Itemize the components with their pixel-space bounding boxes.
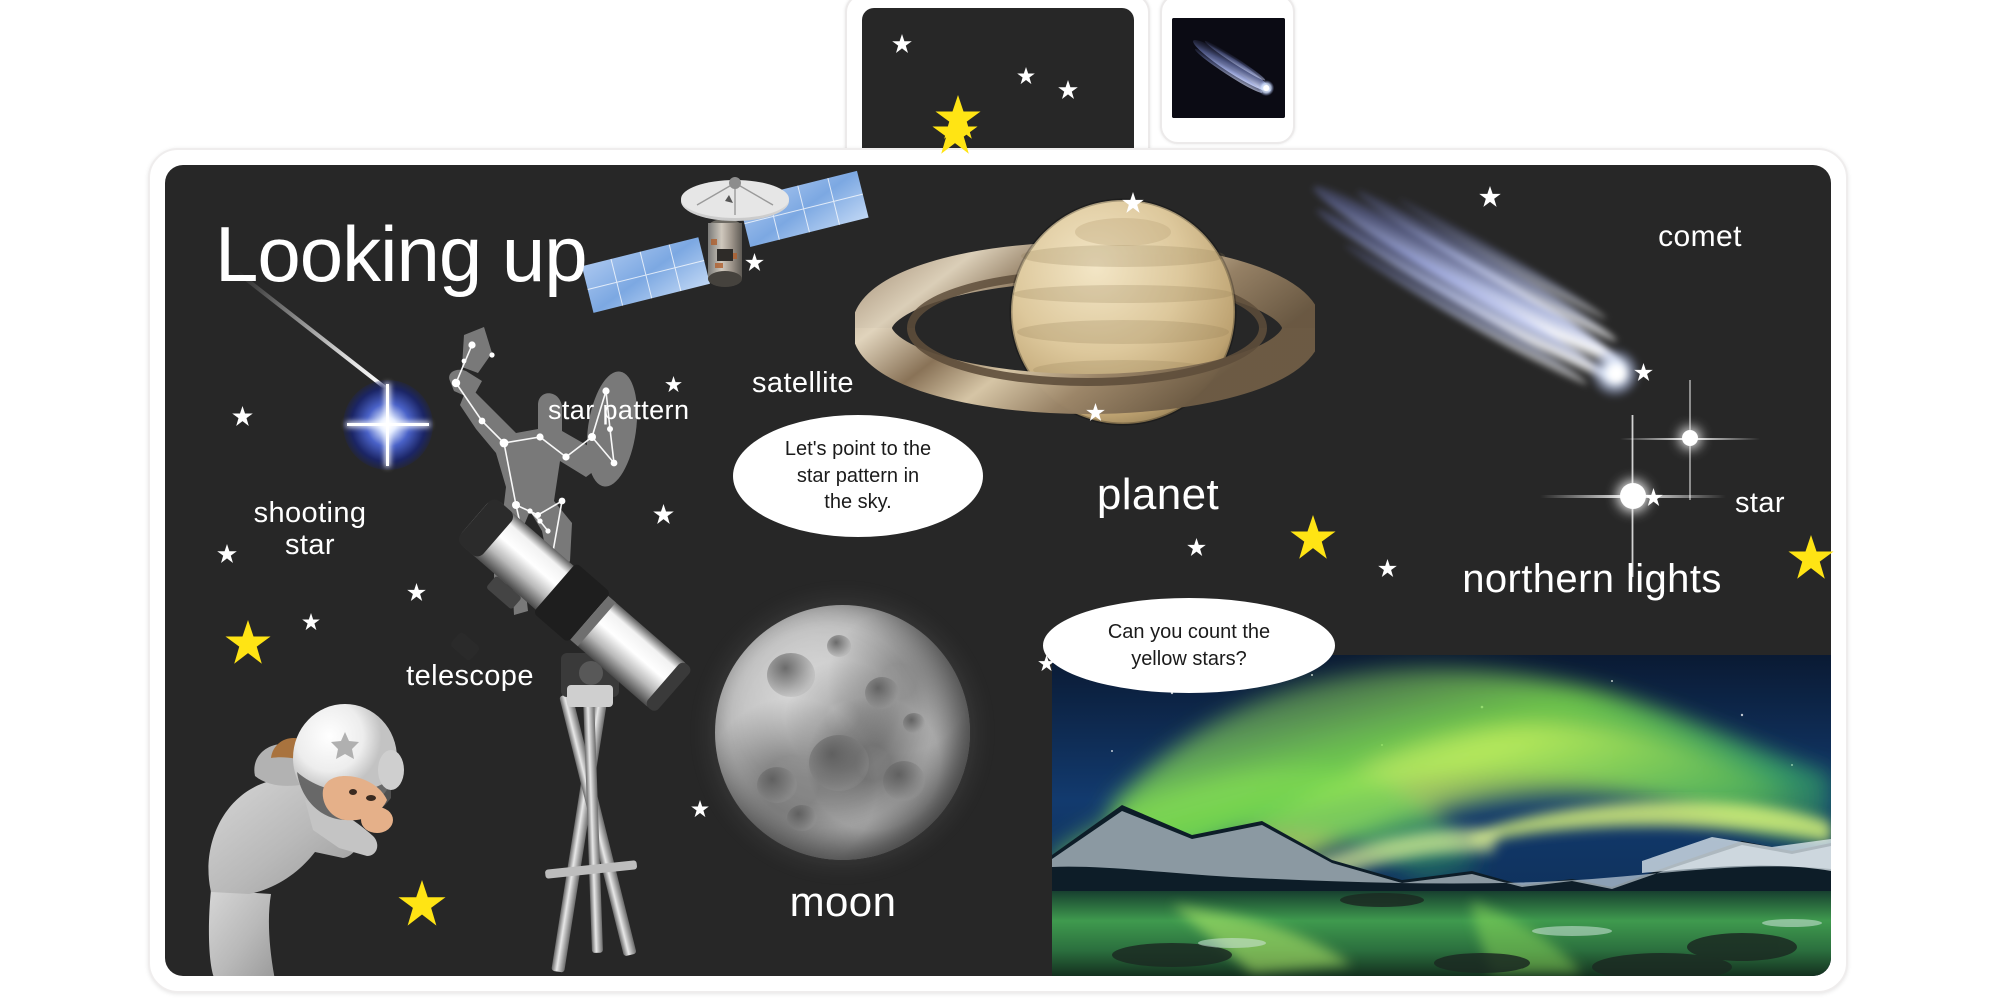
crater [809,735,869,791]
crater [787,805,817,831]
book-spread-page: Looking upstar patternsatelliteshooting … [0,0,2000,1001]
label-star: star [1735,487,1785,519]
satellite-icon [565,165,885,325]
satellite-artwork [565,165,885,325]
label-northern-lights: northern lights [1462,557,1721,602]
bright-star-icon [1540,415,1726,577]
aurora-artwork [1052,655,1831,976]
comet-icon [1250,165,1670,437]
tab-comet-thumbnail [1172,18,1285,118]
crater [883,761,925,801]
crater [757,767,797,803]
bubble-yellow-stars: Can you count the yellow stars? [1043,598,1335,693]
label-moon: moon [790,878,897,925]
label-comet: comet [1658,220,1742,254]
child-icon [195,680,455,976]
label-star-pattern: star pattern [548,395,689,425]
bubble-star-pattern: Let's point to the star pattern in the s… [733,415,983,537]
label-planet: planet [1097,470,1219,519]
northern-lights-photo [1052,655,1831,976]
comet-artwork [1250,165,1670,437]
star-icon [1017,67,1035,85]
crater [767,653,815,697]
moon-artwork [715,605,970,860]
crater [865,677,899,709]
star-icon [892,34,912,54]
page-title: Looking up [215,215,587,293]
star-icon [742,42,764,64]
comet-icon [1172,18,1285,118]
child-with-helmet-artwork [195,680,455,976]
crater [827,635,851,657]
label-shooting-star: shooting star [254,497,367,562]
label-satellite: satellite [752,367,854,399]
label-telescope: telescope [406,660,534,692]
crater [903,713,925,733]
